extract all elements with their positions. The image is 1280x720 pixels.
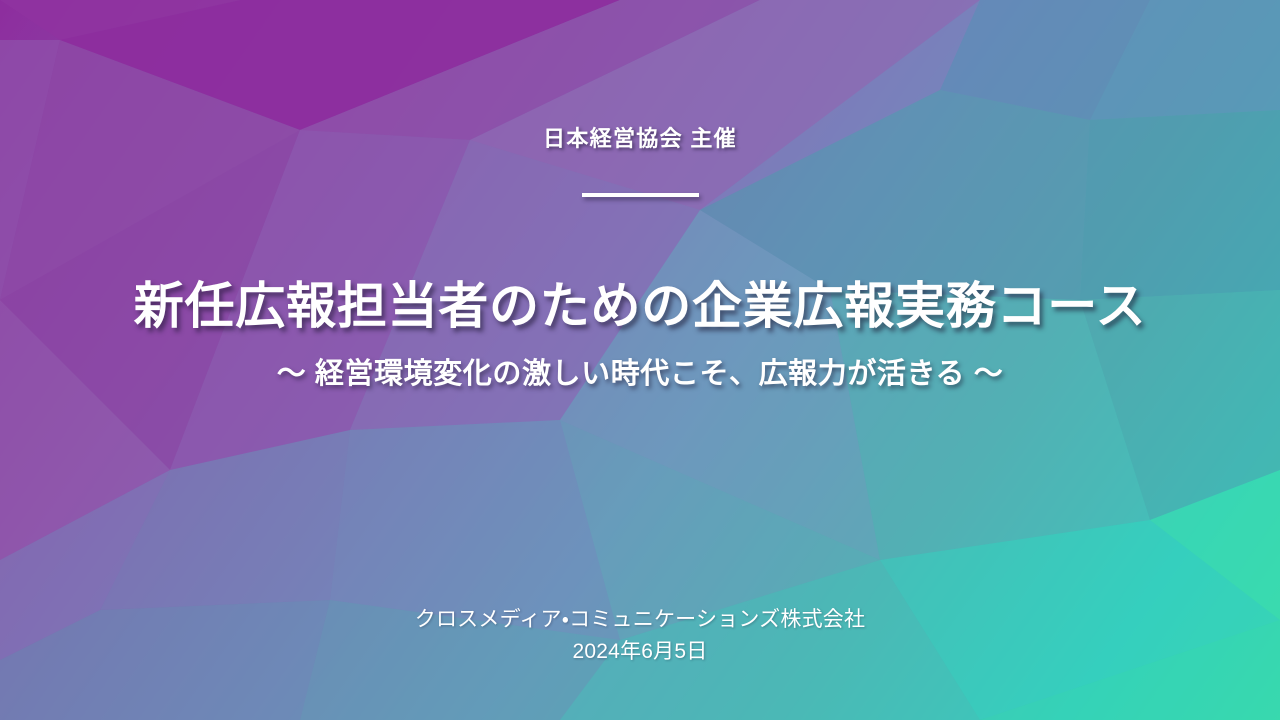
host-organization-label: 日本経営協会 主催 xyxy=(0,126,1280,152)
divider-container xyxy=(0,193,1280,197)
page-subtitle: 〜 経営環境変化の激しい時代こそ、広報力が活きる 〜 xyxy=(0,356,1280,394)
footer-date: 2024年6月5日 xyxy=(0,636,1280,668)
title-slide: 日本経営協会 主催 新任広報担当者のための企業広報実務コース 〜 経営環境変化の… xyxy=(0,0,1280,720)
footer-organization: クロスメディア・コミュニケーションズ株式会社 xyxy=(0,604,1280,636)
page-title: 新任広報担当者のための企業広報実務コース xyxy=(0,277,1280,336)
slide-content: 日本経営協会 主催 新任広報担当者のための企業広報実務コース 〜 経営環境変化の… xyxy=(0,0,1280,720)
title-divider-rule xyxy=(582,193,699,197)
slide-footer: クロスメディア・コミュニケーションズ株式会社 2024年6月5日 xyxy=(0,604,1280,668)
